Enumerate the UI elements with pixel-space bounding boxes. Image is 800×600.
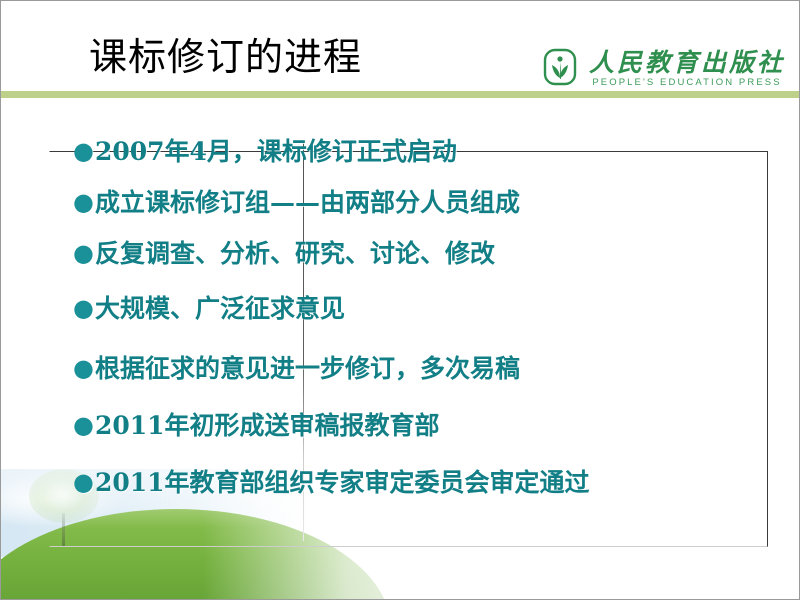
publisher-name-en: PEOPLE'S EDUCATION PRESS — [592, 78, 781, 88]
bullet-marker-icon: ● — [73, 356, 94, 380]
list-item: ● 反复调查、分析、研究、讨论、修改 — [73, 241, 773, 266]
publisher-logo-text: 人民教育出版社 PEOPLE'S EDUCATION PRESS — [589, 50, 785, 88]
bullet-marker-icon: ● — [73, 296, 94, 320]
header-divider — [1, 91, 799, 98]
list-item-label: 2011年教育部组织专家审定委员会审定通过 — [95, 470, 590, 495]
list-item-label: 2007年4月，课标修订正式启动 — [95, 139, 457, 164]
slide-header: 课标修订的进程 人民教育出版社 PEOPLE'S EDUCATION PRESS — [1, 1, 799, 93]
list-item-label: 反复调查、分析、研究、讨论、修改 — [95, 241, 495, 266]
bullet-list: ● 2007年4月，课标修订正式启动 ● 成立课标修订组——由两部分人员组成 ●… — [73, 139, 773, 495]
page-title: 课标修订的进程 — [89, 39, 362, 77]
publisher-logo: 人民教育出版社 PEOPLE'S EDUCATION PRESS — [539, 43, 785, 95]
tree-trunk — [62, 513, 65, 547]
bullet-marker-icon: ● — [73, 470, 94, 494]
list-item-label: 成立课标修订组——由两部分人员组成 — [95, 190, 520, 215]
bullet-marker-icon: ● — [73, 241, 94, 265]
list-item-label: 根据征求的意见进一步修订，多次易稿 — [95, 356, 520, 381]
list-item-label: 大规模、广泛征求意见 — [95, 296, 345, 321]
list-item: ● 成立课标修订组——由两部分人员组成 — [73, 190, 773, 215]
list-item: ● 大规模、广泛征求意见 — [73, 296, 773, 321]
bullet-marker-icon: ● — [73, 413, 94, 437]
list-item: ● 2007年4月，课标修订正式启动 — [73, 139, 773, 164]
list-item-label: 2011年初形成送审稿报教育部 — [95, 413, 440, 438]
bullet-marker-icon: ● — [73, 139, 94, 163]
bullet-marker-icon: ● — [73, 190, 94, 214]
people-education-press-emblem-icon — [539, 48, 581, 90]
list-item: ● 根据征求的意见进一步修订，多次易稿 — [73, 356, 773, 381]
list-item: ● 2011年初形成送审稿报教育部 — [73, 413, 773, 438]
list-item: ● 2011年教育部组织专家审定委员会审定通过 — [73, 470, 773, 495]
publisher-name-cn: 人民教育出版社 — [589, 50, 785, 75]
grass-hill-icon — [0, 509, 391, 600]
presentation-slide: 课标修订的进程 人民教育出版社 PEOPLE'S EDUCATION PRESS… — [0, 0, 800, 600]
